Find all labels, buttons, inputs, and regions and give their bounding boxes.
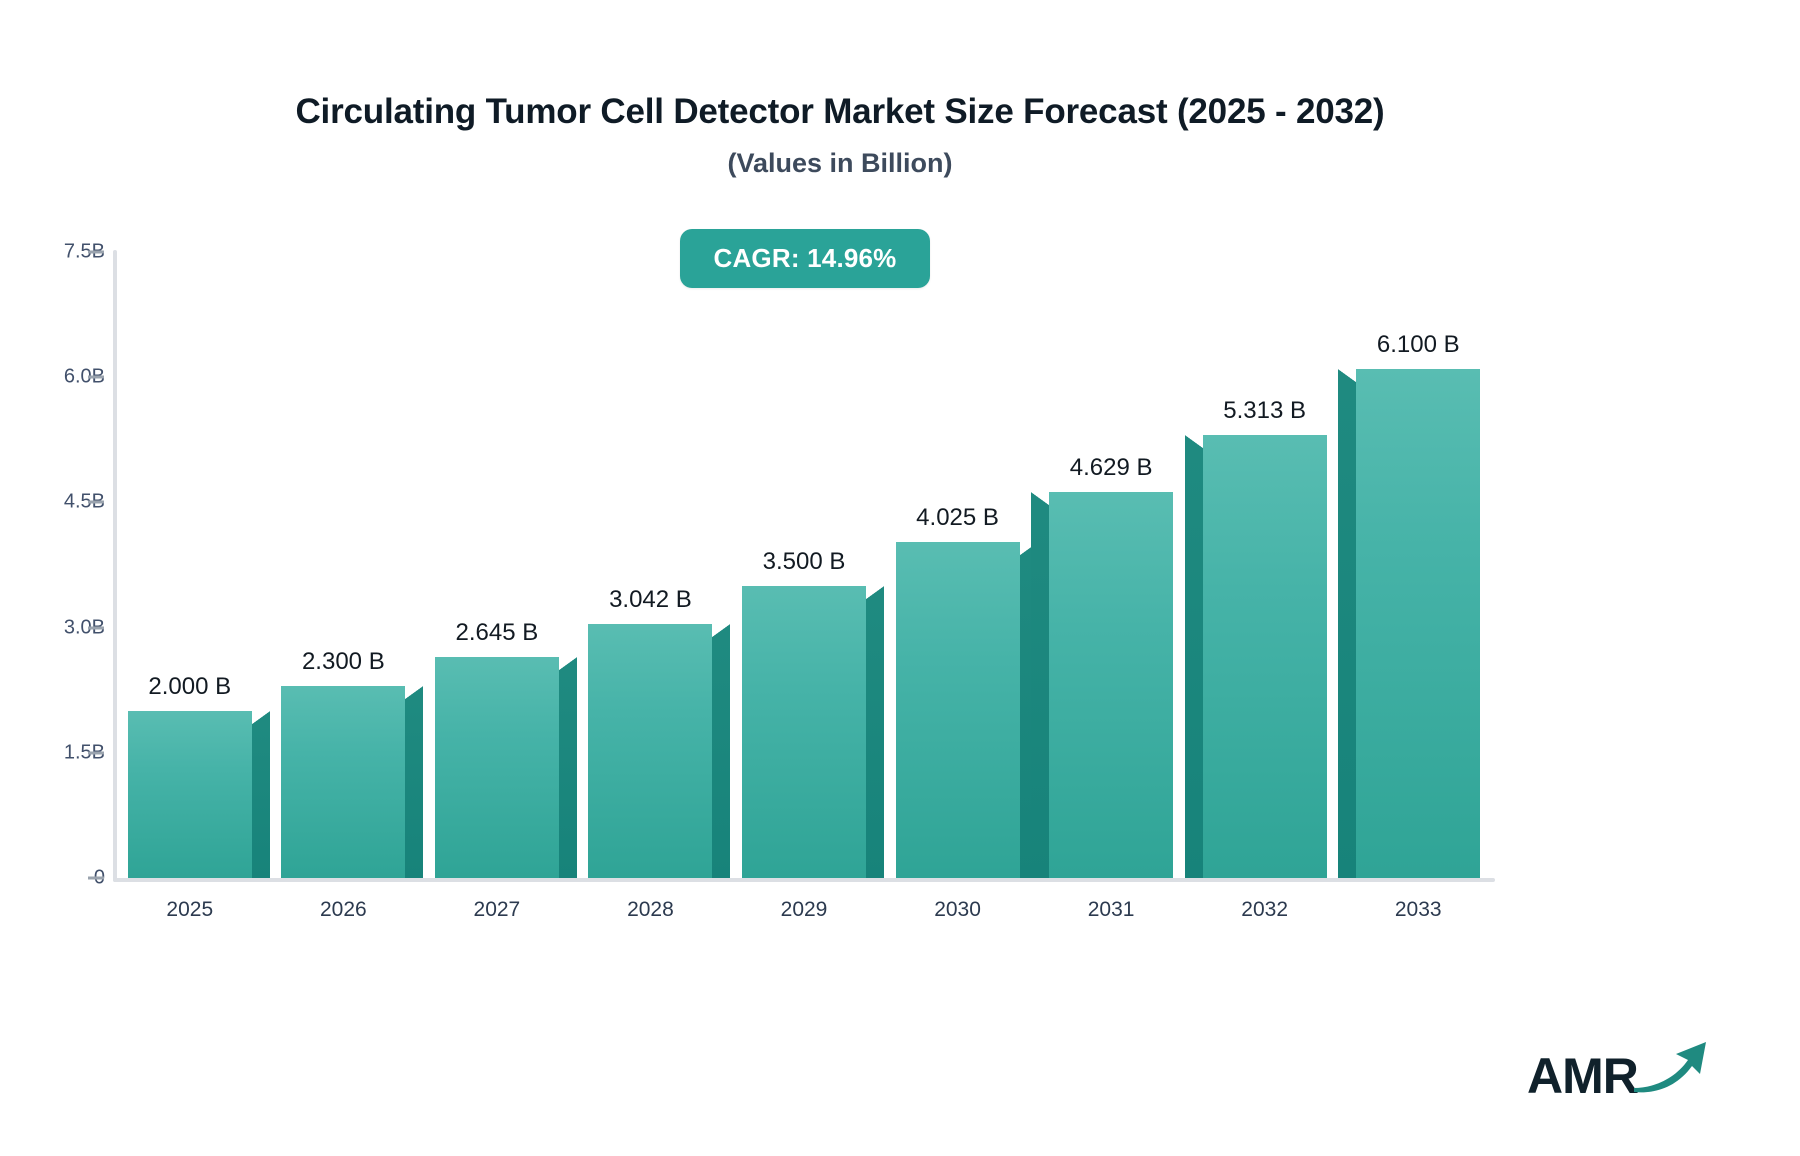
bar-2033[interactable]: 6.100 B <box>1356 369 1480 878</box>
bar-side-shadow <box>559 670 577 878</box>
bar-value-label: 2.300 B <box>302 648 385 676</box>
x-axis-tick-label-2033: 2033 <box>1395 898 1442 922</box>
x-axis-tick-label-2027: 2027 <box>474 898 521 922</box>
bar-side-shadow <box>252 724 270 878</box>
bar-face <box>1203 435 1327 878</box>
bar-top-bevel <box>405 686 423 699</box>
bar-2027[interactable]: 2.645 B <box>435 657 559 878</box>
bar-top-bevel <box>1031 492 1049 505</box>
bar-2026[interactable]: 2.300 B <box>281 686 405 878</box>
x-axis-tick-label-2029: 2029 <box>781 898 828 922</box>
x-axis-tick-label-2032: 2032 <box>1241 898 1288 922</box>
bar-side-shadow <box>1031 505 1049 878</box>
y-axis-tick-mark <box>88 751 104 754</box>
bar-top-bevel <box>1338 369 1356 382</box>
bar-value-label: 5.313 B <box>1223 397 1306 425</box>
bar-top-bevel <box>559 657 577 670</box>
bar-value-label: 6.100 B <box>1377 331 1460 359</box>
plot-area: 7.5B6.0B4.5B3.0B1.5B02.000 B20252.300 B2… <box>0 0 1800 1156</box>
y-axis-tick-mark <box>88 501 104 504</box>
bar-value-label: 4.025 B <box>916 504 999 532</box>
bar-face <box>281 686 405 878</box>
bar-value-label: 3.500 B <box>763 548 846 576</box>
bar-side-shadow <box>1338 382 1356 878</box>
y-axis-tick-mark <box>88 626 104 629</box>
bar-face <box>588 624 712 878</box>
bar-top-bevel <box>1185 435 1203 448</box>
y-axis-tick-mark <box>88 251 104 254</box>
bar-value-label: 2.000 B <box>148 673 231 701</box>
bar-2030[interactable]: 4.025 B <box>896 542 1020 878</box>
x-axis-tick-label-2026: 2026 <box>320 898 367 922</box>
growth-arrow-icon <box>1632 1036 1710 1099</box>
x-axis-tick-label-2025: 2025 <box>166 898 213 922</box>
y-axis-tick-mark <box>88 376 104 379</box>
bar-face <box>128 711 252 878</box>
x-axis-tick-label-2031: 2031 <box>1088 898 1135 922</box>
bar-face <box>1356 369 1480 878</box>
y-axis-line <box>113 250 117 882</box>
amr-logo: AMR <box>1527 1036 1710 1101</box>
bar-face <box>1049 492 1173 878</box>
bar-face <box>896 542 1020 878</box>
bar-2028[interactable]: 3.042 B <box>588 624 712 878</box>
bar-top-bevel <box>252 711 270 724</box>
bar-value-label: 2.645 B <box>456 619 539 647</box>
bar-side-shadow <box>405 699 423 878</box>
bar-side-shadow <box>1185 448 1203 878</box>
y-axis-tick-mark <box>88 877 104 880</box>
bar-2031[interactable]: 4.629 B <box>1049 492 1173 878</box>
bar-2029[interactable]: 3.500 B <box>742 586 866 878</box>
bar-face <box>435 657 559 878</box>
x-axis-tick-label-2030: 2030 <box>934 898 981 922</box>
bar-2032[interactable]: 5.313 B <box>1203 435 1327 878</box>
x-axis-line <box>113 878 1495 882</box>
bar-side-shadow <box>712 637 730 878</box>
x-axis-tick-label-2028: 2028 <box>627 898 674 922</box>
bar-2025[interactable]: 2.000 B <box>128 711 252 878</box>
bar-top-bevel <box>712 624 730 637</box>
amr-logo-text: AMR <box>1527 1051 1638 1101</box>
bar-value-label: 4.629 B <box>1070 454 1153 482</box>
bar-side-shadow <box>866 599 884 878</box>
bar-top-bevel <box>866 586 884 599</box>
bar-value-label: 3.042 B <box>609 586 692 614</box>
chart-page: Circulating Tumor Cell Detector Market S… <box>0 0 1800 1156</box>
bar-face <box>742 586 866 878</box>
